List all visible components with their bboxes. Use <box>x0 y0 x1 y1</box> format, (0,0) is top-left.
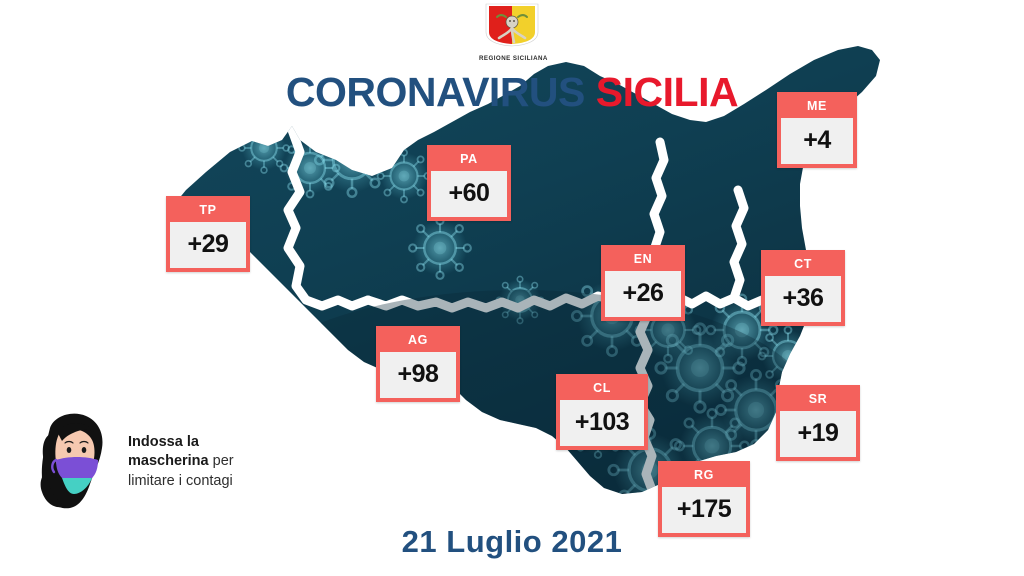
mask-notice-line1: Indossa la <box>128 434 199 450</box>
province-code: AG <box>380 330 456 352</box>
province-code: SR <box>780 389 856 411</box>
province-card-en: EN+26 <box>601 245 685 321</box>
province-code: RG <box>662 465 746 487</box>
province-new-cases: +60 <box>431 171 507 217</box>
report-date: 21 Luglio 2021 <box>0 524 1024 560</box>
title-word-coronavirus: CORONAVIRUS <box>286 69 585 115</box>
province-code: CL <box>560 378 644 400</box>
mask-notice-line2-bold: mascherina <box>128 453 209 469</box>
province-new-cases: +29 <box>170 222 246 268</box>
province-new-cases: +98 <box>380 352 456 398</box>
mask-notice-line2-rest: per <box>209 453 234 469</box>
province-card-ct: CT+36 <box>761 250 845 326</box>
emblem-caption: REGIONE SICILIANA <box>479 55 545 62</box>
province-card-sr: SR+19 <box>776 385 860 461</box>
mask-notice-text: Indossa la mascherina per limitare i con… <box>128 433 293 491</box>
province-new-cases: +19 <box>780 411 856 457</box>
province-new-cases: +103 <box>560 400 644 446</box>
province-code: PA <box>431 149 507 171</box>
province-card-me: ME+4 <box>777 92 857 168</box>
province-card-pa: PA+60 <box>427 145 511 221</box>
trinacria-icon <box>483 2 541 48</box>
province-code: EN <box>605 249 681 271</box>
province-card-cl: CL+103 <box>556 374 648 450</box>
province-new-cases: +26 <box>605 271 681 317</box>
province-new-cases: +4 <box>781 118 853 164</box>
province-code: CT <box>765 254 841 276</box>
page-title: CORONAVIRUS SICILIA <box>0 72 1024 113</box>
title-word-sicilia: SICILIA <box>596 69 738 115</box>
girl-with-mask-icon <box>28 410 120 512</box>
province-card-tp: TP+29 <box>166 196 250 272</box>
regione-siciliana-emblem: REGIONE SICILIANA <box>479 2 545 64</box>
province-code: ME <box>781 96 853 118</box>
mask-notice: Indossa la mascherina per limitare i con… <box>28 410 290 515</box>
province-card-ag: AG+98 <box>376 326 460 402</box>
province-code: TP <box>170 200 246 222</box>
infographic-root: REGIONE SICILIANA CORONAVIRUS SICILIA TP… <box>0 0 1024 576</box>
mask-notice-line3: limitare i contagi <box>128 473 233 489</box>
province-new-cases: +36 <box>765 276 841 322</box>
